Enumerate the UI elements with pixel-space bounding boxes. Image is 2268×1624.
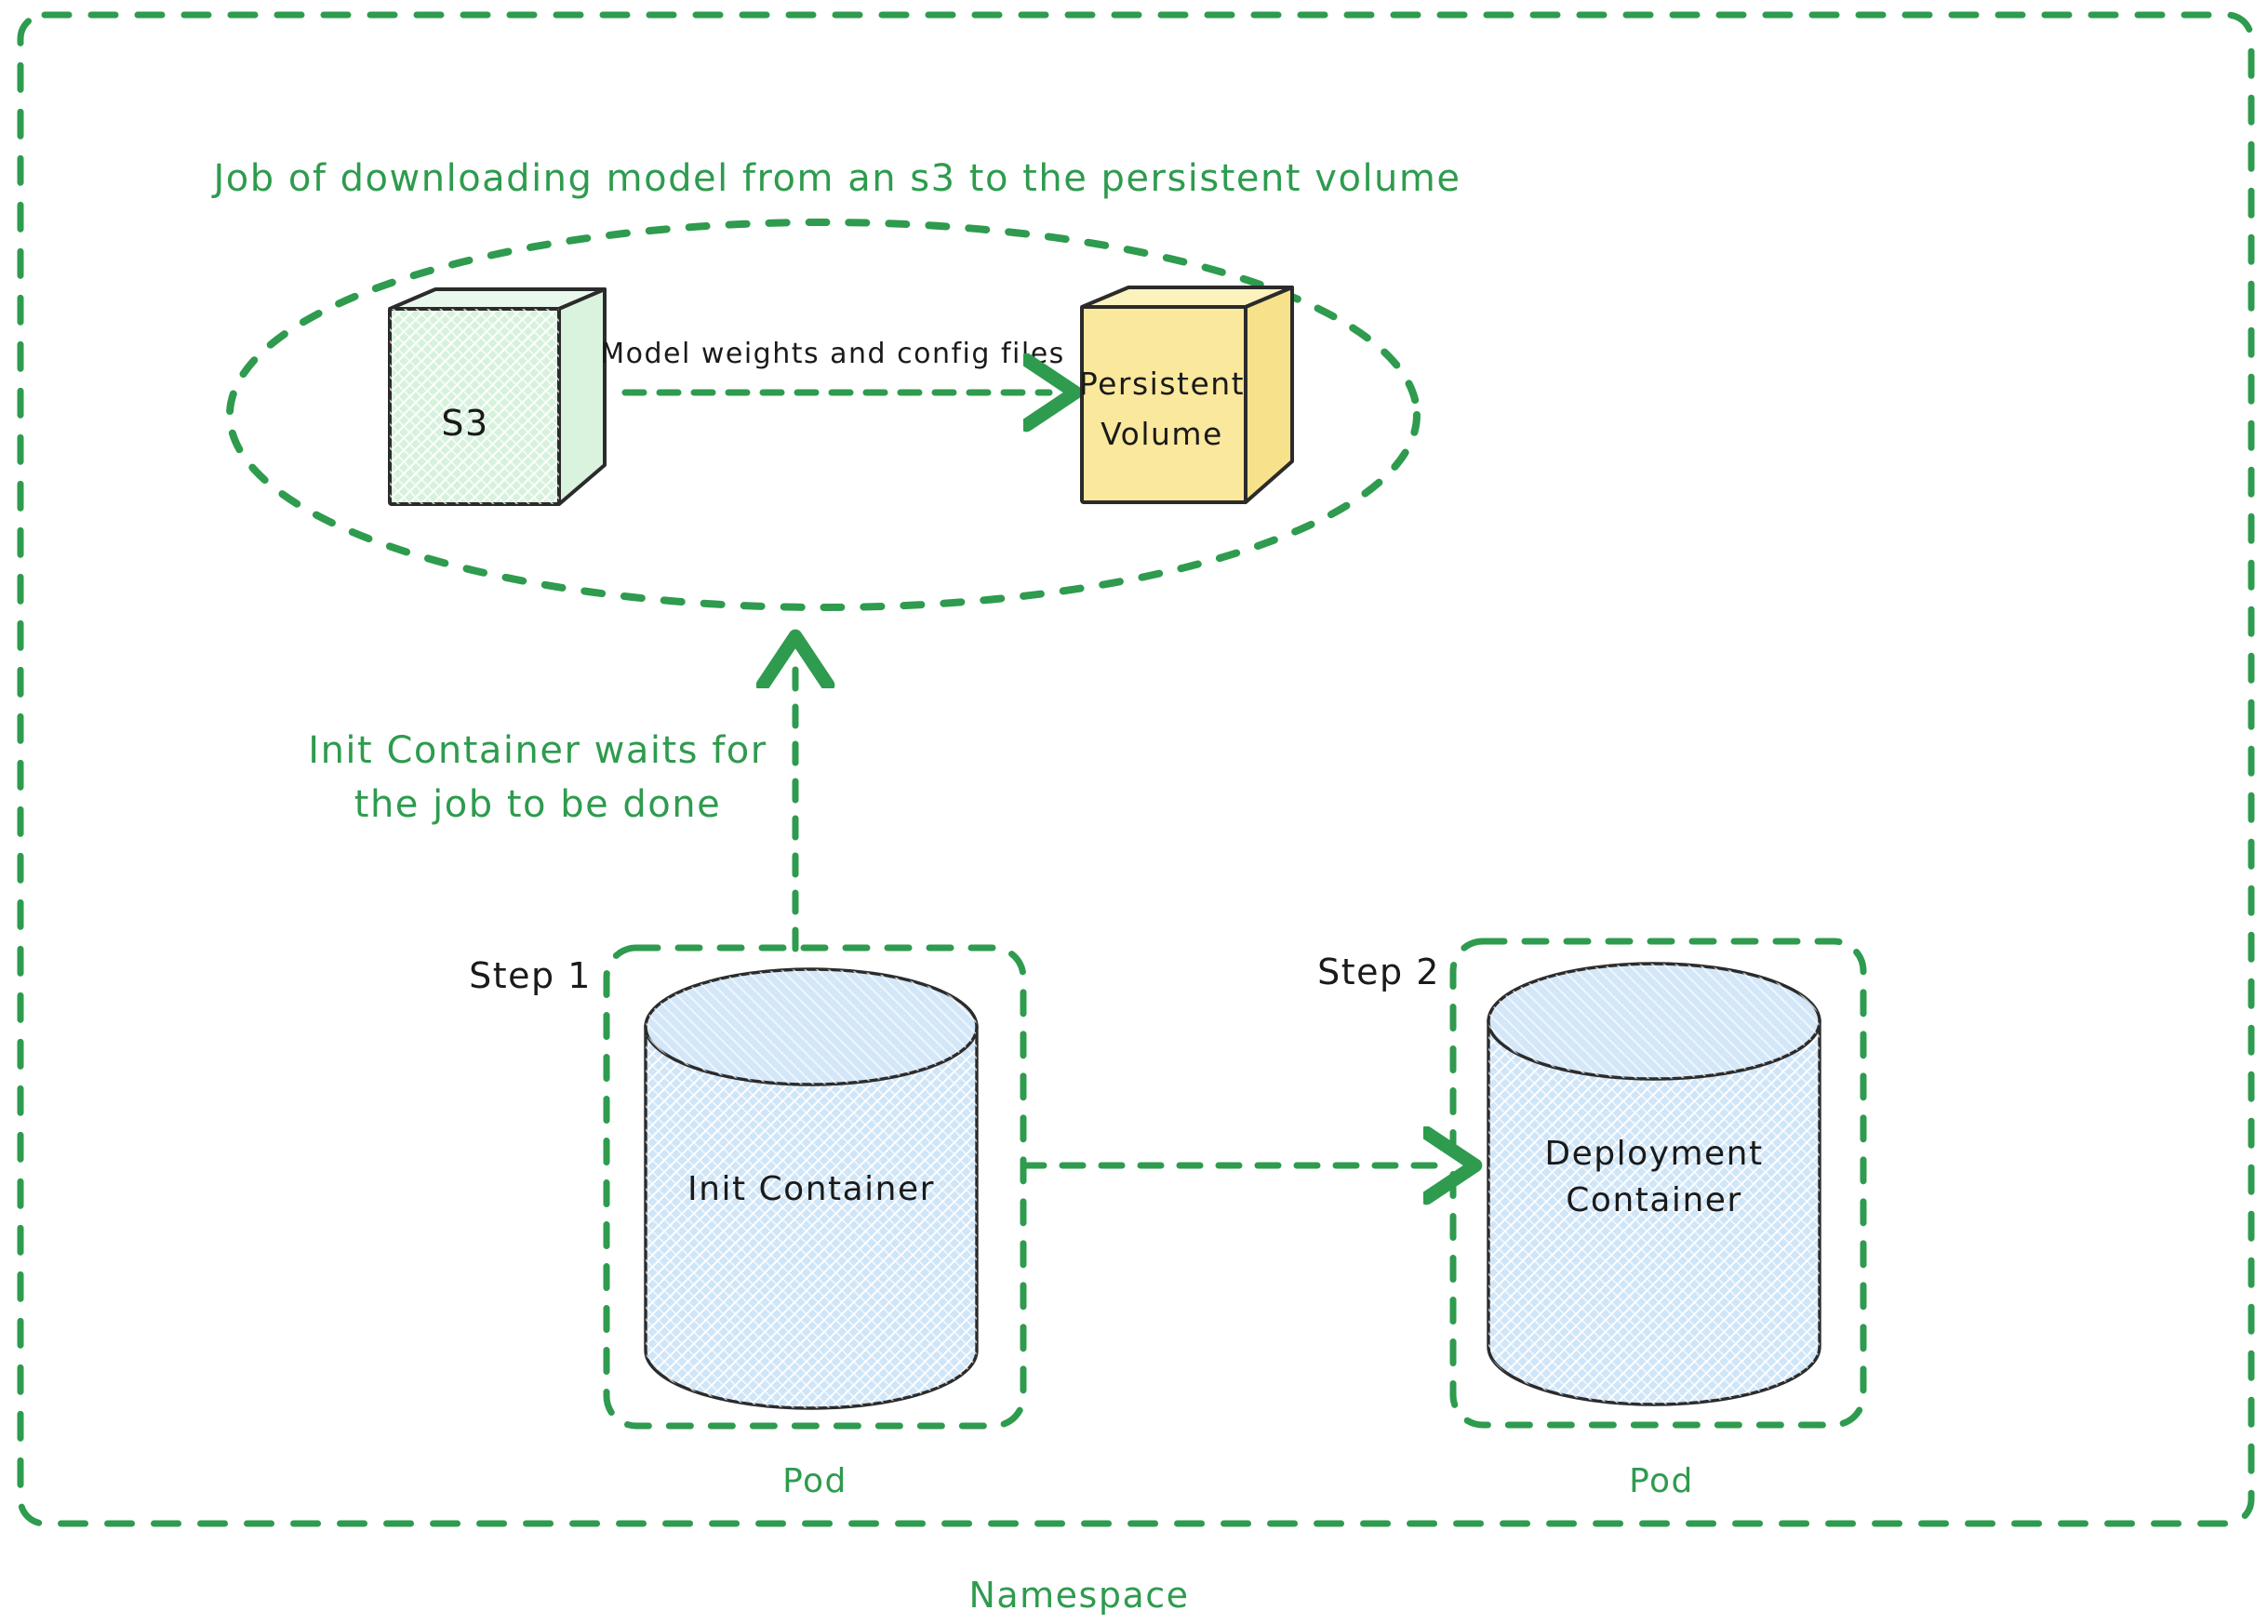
persistent-volume-cube-label: Persistent: [1079, 366, 1245, 402]
deployment-container-label: Deployment: [1544, 1135, 1763, 1173]
persistent-volume-cube-label-line2: Volume: [1101, 416, 1223, 452]
model-transfer-edge-label-text: Model weights and config files: [600, 338, 1065, 370]
deployment-container-label-line1: Deployment: [1544, 1135, 1763, 1173]
pod-1-label: Pod: [782, 1462, 847, 1500]
architecture-diagram: Namespace Job of downloading model from …: [0, 0, 2268, 1624]
s3-cube-label-text: S3: [441, 403, 488, 444]
pod-2-label: Pod: [1629, 1462, 1694, 1500]
init-wait-note-line1-text: Init Container waits for: [308, 729, 767, 772]
model-transfer-edge-label: Model weights and config files: [600, 338, 1065, 370]
step-2-label: Step 2: [1317, 952, 1440, 992]
step-2-label-text: Step 2: [1317, 952, 1440, 992]
pod-1-label-text: Pod: [782, 1462, 847, 1500]
deployment-container-label-line2: Container: [1566, 1181, 1741, 1219]
init-container-label: Init Container: [687, 1170, 935, 1208]
s3-cube-label: S3: [441, 403, 488, 444]
s3-cube: S3: [390, 289, 605, 504]
init-wait-note-line2: the job to be done: [354, 783, 721, 826]
namespace-label: Namespace: [968, 1575, 1189, 1616]
persistent-volume-cube-label-line1: Persistent: [1079, 366, 1245, 402]
deployment-container-label-2: Container: [1566, 1181, 1741, 1219]
deployment-container-cylinder: Deployment Container: [1488, 964, 1820, 1404]
init-wait-note-line2-text: the job to be done: [354, 783, 721, 826]
pod-2-label-text: Pod: [1629, 1462, 1694, 1500]
init-container-label-text: Init Container: [687, 1170, 935, 1208]
persistent-volume-cube-label-2: Volume: [1101, 416, 1223, 452]
step-1-label-text: Step 1: [469, 955, 592, 996]
init-container-cylinder: Init Container: [646, 969, 977, 1408]
persistent-volume-cube: Persistent Volume: [1079, 287, 1292, 502]
step-1-label: Step 1: [469, 955, 592, 996]
init-wait-note-line1: Init Container waits for: [308, 729, 767, 772]
job-group-title: Job of downloading model from an s3 to t…: [211, 157, 1461, 200]
namespace-label-text: Namespace: [968, 1575, 1189, 1616]
diagram-canvas: Namespace Job of downloading model from …: [0, 0, 2268, 1624]
job-group-title-text: Job of downloading model from an s3 to t…: [211, 157, 1461, 200]
